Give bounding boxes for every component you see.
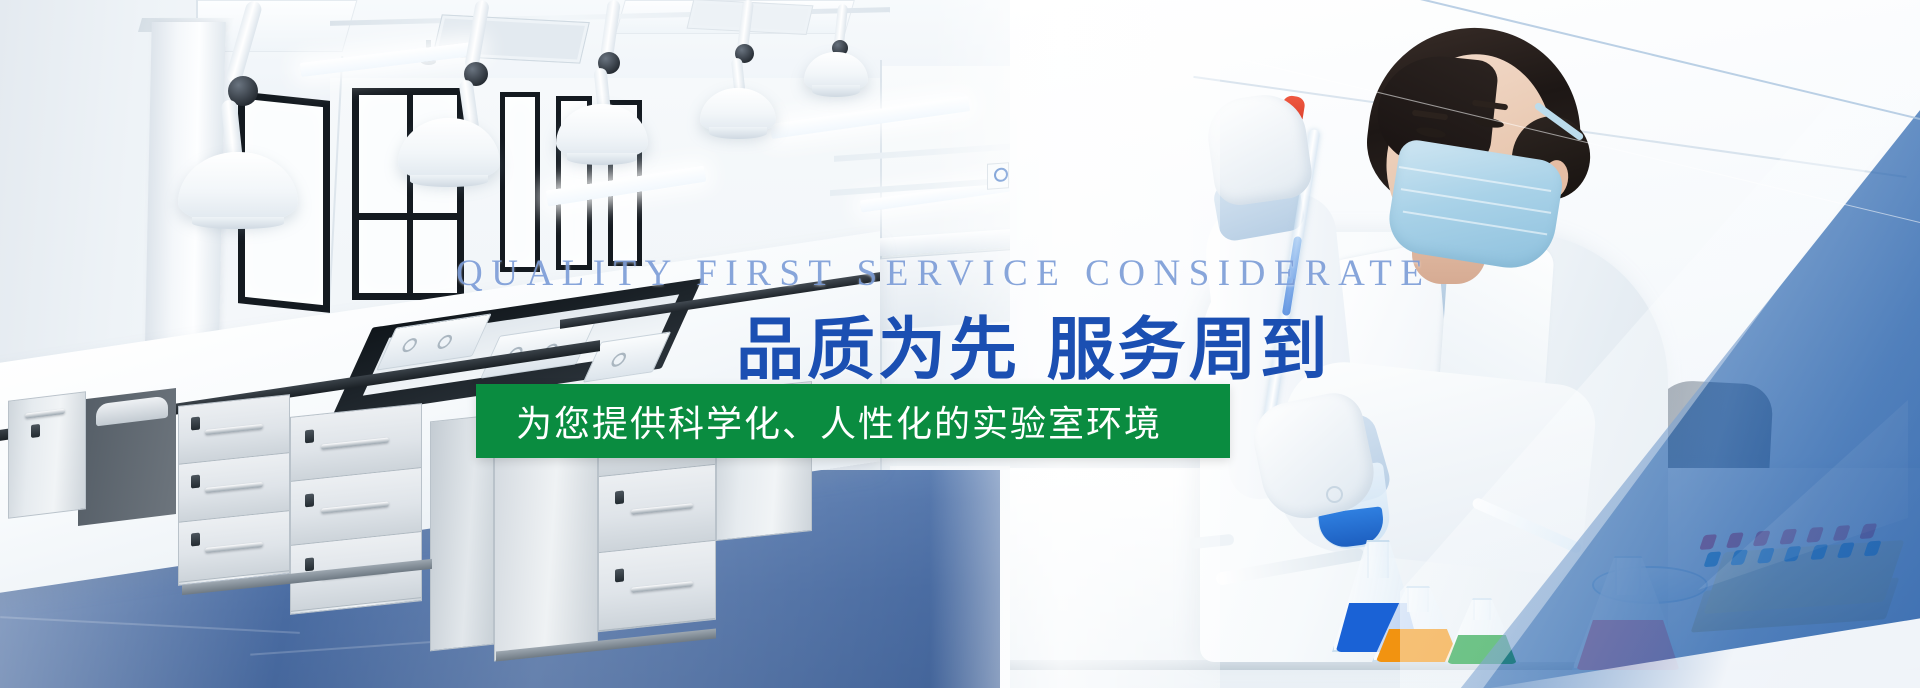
subtitle-bar: 为您提供科学化、人性化的实验室环境 <box>476 384 1230 458</box>
banner-subtitle: 为您提供科学化、人性化的实验室环境 <box>516 395 1162 447</box>
banner-text-block: QUALITY FIRST SERVICE CONSIDERATE 品质为先 服… <box>0 0 1920 688</box>
english-tagline: QUALITY FIRST SERVICE CONSIDERATE <box>456 252 1431 295</box>
hero-banner: QUALITY FIRST SERVICE CONSIDERATE 品质为先 服… <box>0 0 1920 688</box>
banner-headline: 品质为先 服务周到 <box>736 294 1331 393</box>
